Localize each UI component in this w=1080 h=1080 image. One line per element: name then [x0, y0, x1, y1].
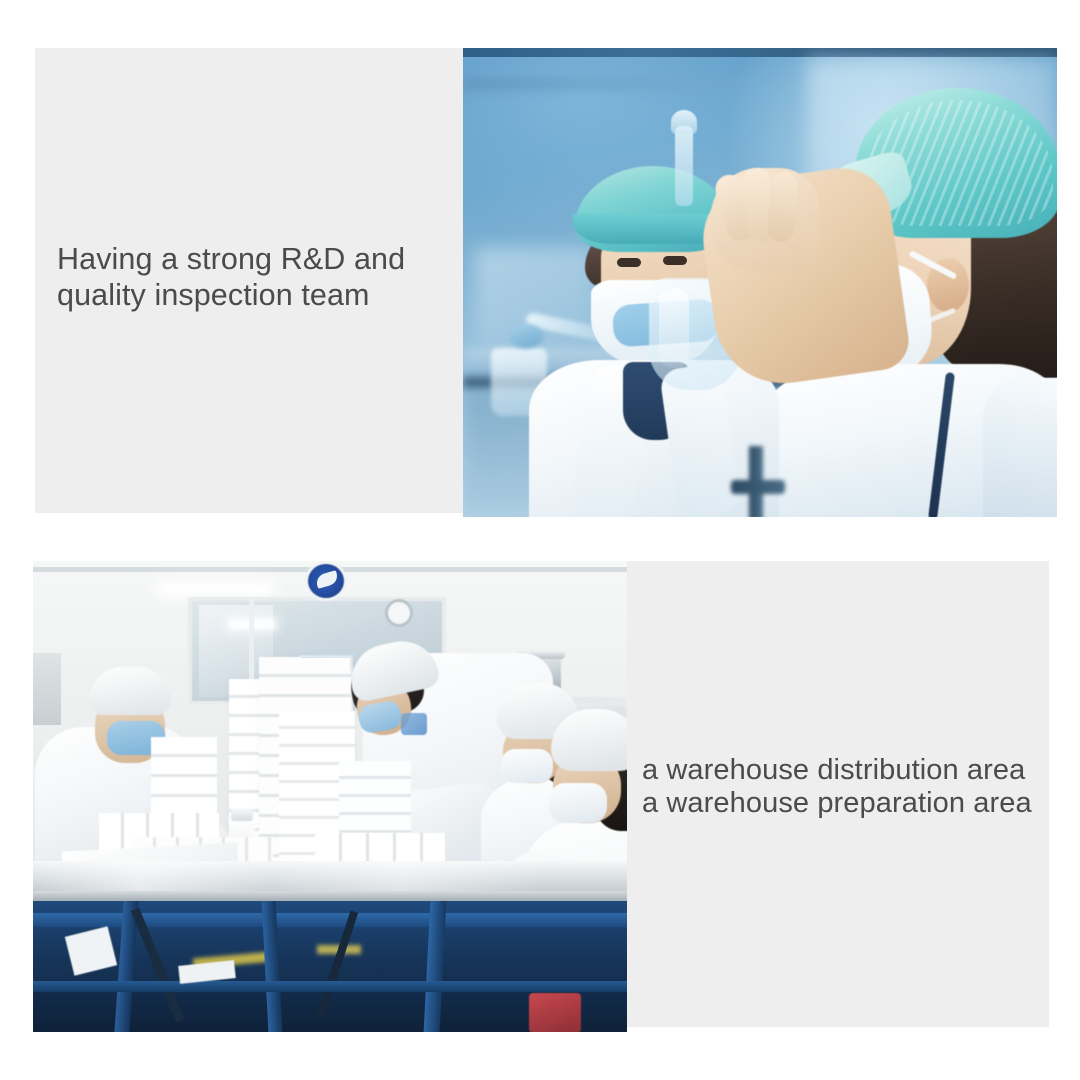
wall-panel-left [33, 653, 61, 725]
technician-b-shoulder [983, 378, 1057, 517]
table-frame-rail-lower [33, 981, 627, 992]
worker-4-red-item [529, 993, 581, 1032]
glass-vessel-neck [675, 126, 693, 206]
section-warehouse: a warehouse distribution area a warehous… [0, 560, 1080, 1080]
technician-a-eye-left [617, 258, 641, 267]
glass-vessel-tip [671, 110, 697, 134]
caption-rd-quality: Having a strong R&D and quality inspecti… [57, 241, 457, 313]
table-glare [33, 861, 627, 891]
lab-upper-shelf [463, 78, 736, 90]
hand-finger-3 [767, 171, 799, 243]
section-rd-quality: Having a strong R&D and quality inspecti… [0, 0, 1080, 560]
white-bottle-cap [231, 809, 253, 821]
lab-spatula-bowl [509, 324, 543, 348]
caption-warehouse: a warehouse distribution area a warehous… [642, 754, 1042, 820]
ceiling-light-1 [161, 585, 269, 593]
worker-2-coat-logo [401, 713, 427, 735]
lab-ceiling-band [463, 48, 1057, 57]
lab-technicians-photo [463, 48, 1057, 517]
product-showcase-page: Having a strong R&D and quality inspecti… [0, 0, 1080, 1080]
glass-vessel-highlight [659, 288, 689, 368]
warehouse-packing-photo [33, 561, 627, 1032]
wall-clock-icon [385, 599, 413, 627]
worker-4-face-mask [549, 783, 607, 823]
worker-1-hairnet [89, 667, 171, 715]
worker-3-face-mask [501, 749, 553, 783]
technician-a-eye-right [663, 256, 687, 265]
lab-equipment-base [731, 480, 785, 494]
